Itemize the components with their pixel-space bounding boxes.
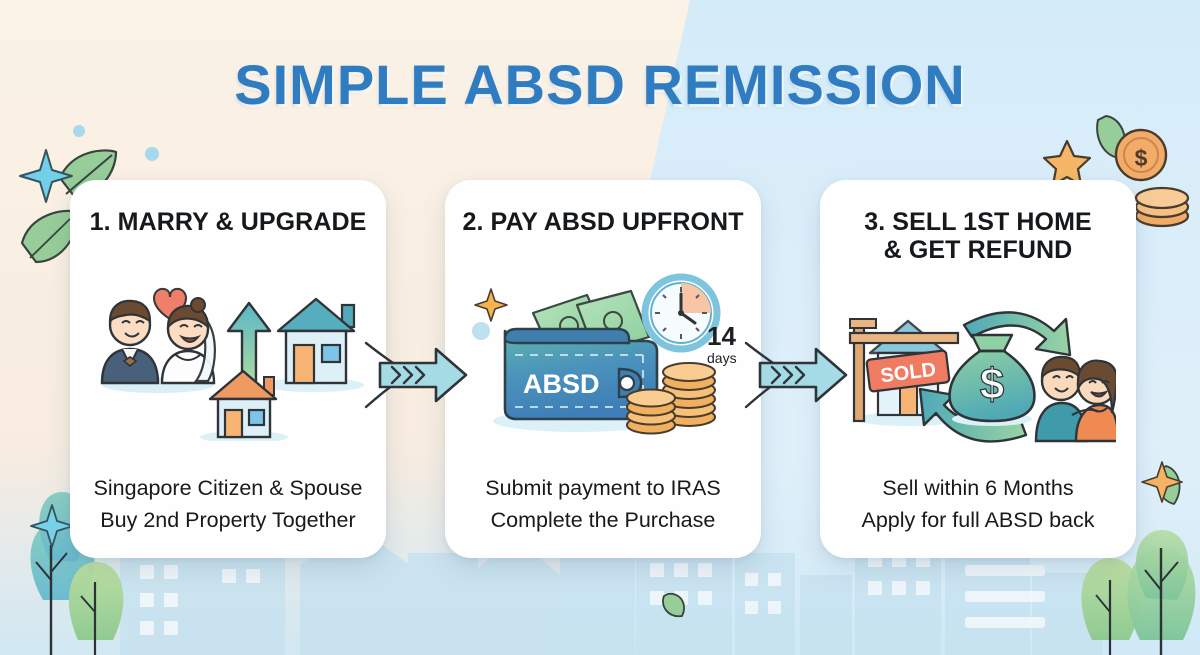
happy-couple-icon (1036, 356, 1116, 440)
step-2-caption-line-1: Submit payment to IRAS (453, 473, 753, 505)
step-3-title-line-1: 3. SELL 1ST HOME (864, 208, 1092, 236)
wallet-clasp (620, 376, 634, 390)
step-3-title-line-2: & GET REFUND (884, 236, 1073, 264)
step-2-illustration: ABSD (453, 236, 753, 473)
step-1-caption-line-2: Buy 2nd Property Together (78, 505, 378, 537)
step-card-2[interactable]: 2. PAY ABSD UPFRONT (445, 180, 761, 558)
step-card-1[interactable]: 1. MARRY & UPGRADE (70, 180, 386, 558)
step-2-caption: Submit payment to IRAS Complete the Purc… (453, 473, 753, 536)
money-bag-symbol: $ (980, 360, 1004, 409)
dot-decoration (472, 322, 490, 340)
step-3-caption: Sell within 6 Months Apply for full ABSD… (828, 473, 1128, 536)
coin-stack-icon-short (627, 389, 675, 433)
step-1-title: 1. MARRY & UPGRADE (85, 208, 371, 236)
step-3-caption-line-2: Apply for full ABSD back (828, 505, 1128, 537)
connector-arrow-1 (362, 335, 472, 415)
wallet-label: ABSD (523, 369, 600, 399)
up-arrow-icon (228, 303, 270, 381)
clock-days-unit: days (707, 350, 737, 366)
step-1-caption-line-1: Singapore Citizen & Spouse (78, 473, 378, 505)
step-card-3[interactable]: 3. SELL 1ST HOME & GET REFUND (820, 180, 1136, 558)
clock-days-value: 14 (707, 321, 736, 351)
connector-arrow-2 (742, 335, 852, 415)
step-3-illustration: SOLD $ (828, 264, 1128, 473)
sparkle-icon (475, 289, 507, 321)
step-3-caption-line-1: Sell within 6 Months (828, 473, 1128, 505)
step-1-caption: Singapore Citizen & Spouse Buy 2nd Prope… (78, 473, 378, 536)
step-2-caption-line-2: Complete the Purchase (453, 505, 753, 537)
steps-container: 1. MARRY & UPGRADE (0, 180, 1200, 558)
infographic-canvas: $ SIMPLE ABSD REMISSION 1. MARRY & UPGRA… (0, 0, 1200, 655)
step-1-illustration (78, 236, 378, 473)
step-2-title: 2. PAY ABSD UPFRONT (460, 208, 746, 236)
page-title: SIMPLE ABSD REMISSION (0, 52, 1200, 117)
step-3-title: 3. SELL 1ST HOME & GET REFUND (835, 208, 1121, 264)
